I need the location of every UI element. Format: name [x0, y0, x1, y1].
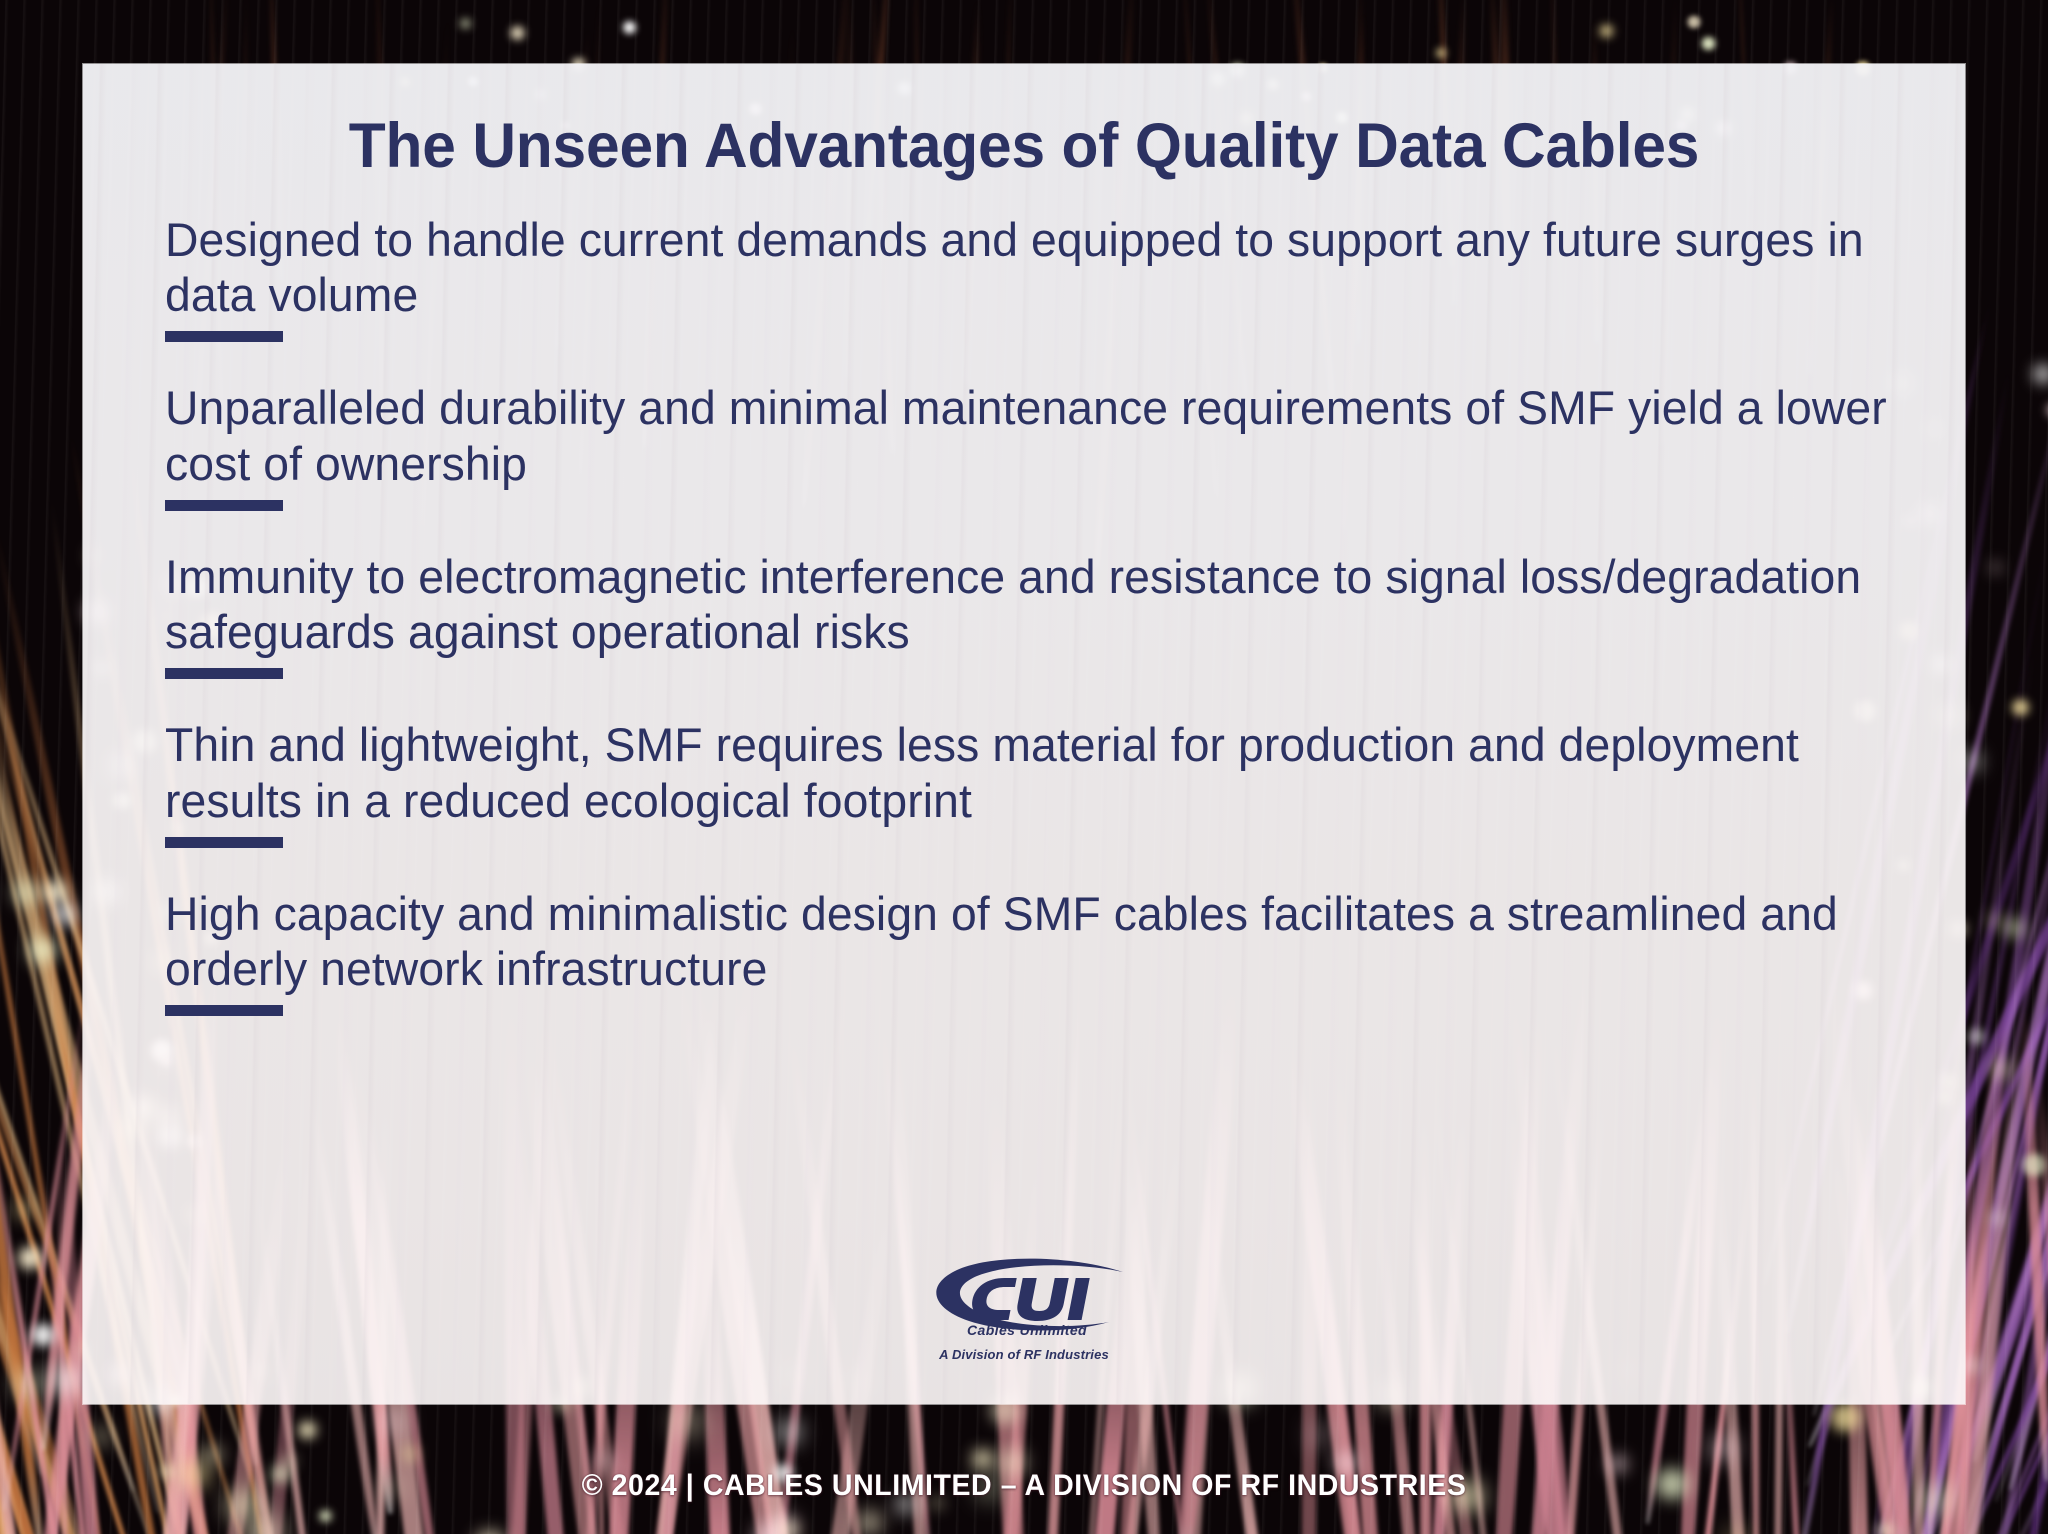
fiber-light-dot: [198, 1443, 227, 1466]
fiber-strand: [0, 576, 82, 1534]
fiber-light-dot: [1963, 1358, 1981, 1373]
advantage-item: High capacity and minimalistic design of…: [117, 886, 1931, 1016]
fiber-strand: [0, 388, 49, 1534]
fiber-light-dot: [1597, 24, 1615, 39]
fiber-strand: [0, 541, 6, 1534]
fiber-strand: [1970, 753, 2048, 1534]
fiber-strand: [1999, 404, 2048, 1534]
fiber-strand: [0, 965, 10, 1534]
fiber-strand: [1993, 404, 2048, 1503]
fiber-light-dot: [38, 878, 72, 906]
fiber-light-dot: [1985, 913, 2003, 928]
fiber-strand: [2006, 626, 2048, 1491]
fiber-light-dot: [317, 1509, 334, 1523]
fiber-strand: [0, 486, 52, 1534]
accent-rule: [165, 837, 283, 848]
fiber-light-dot: [508, 25, 527, 41]
advantage-item: Designed to handle current demands and e…: [117, 212, 1931, 342]
fiber-strand: [0, 577, 62, 1534]
fiber-strand: [1988, 475, 2048, 1534]
fiber-light-dot: [402, 1447, 419, 1461]
fiber-light-dot: [1685, 15, 1703, 30]
fiber-light-dot: [240, 1514, 288, 1534]
fiber-strand: [0, 390, 21, 1534]
fiber-strand: [1969, 488, 2048, 1463]
advantage-text: Immunity to electromagnetic interference…: [165, 549, 1905, 659]
fiber-strand: [0, 528, 68, 1534]
fiber-light-dot: [377, 1409, 409, 1435]
advantage-text: Unparalleled durability and minimal main…: [165, 380, 1905, 490]
fiber-strand: [2, 970, 92, 1511]
fiber-light-dot: [969, 1448, 996, 1470]
fiber-light-dot: [2009, 698, 2032, 717]
fiber-strand: [1952, 649, 2048, 1534]
fiber-strand: [1991, 460, 2048, 1534]
fiber-light-dot: [1989, 562, 2002, 572]
fiber-light-dot: [667, 1404, 711, 1440]
fiber-light-dot: [25, 936, 60, 965]
fiber-strand: [0, 354, 26, 1534]
fiber-strand: [1955, 551, 2048, 1534]
fiber-strand: [1960, 375, 2048, 1534]
fiber-strand: [1960, 654, 2048, 1534]
accent-rule: [165, 331, 283, 342]
fiber-light-dot: [469, 1529, 511, 1534]
fiber-strand: [0, 578, 26, 1534]
fiber-light-dot: [772, 1418, 806, 1446]
fiber-light-dot: [13, 1201, 34, 1218]
fiber-light-dot: [2030, 363, 2048, 385]
fiber-strand: [0, 714, 89, 1534]
fiber-light-dot: [594, 1453, 613, 1469]
fiber-light-dot: [43, 1362, 87, 1398]
fiber-light-dot: [1988, 1058, 2015, 1080]
fiber-strand: [1973, 804, 2048, 1534]
accent-rule: [165, 1005, 283, 1016]
advantage-item: Thin and lightweight, SMF requires less …: [117, 717, 1931, 847]
fiber-strand: [2024, 563, 2048, 1534]
advantage-text: Thin and lightweight, SMF requires less …: [165, 717, 1905, 827]
advantage-text: Designed to handle current demands and e…: [165, 212, 1905, 322]
fiber-light-dot: [27, 1322, 59, 1349]
fiber-strand: [2020, 1008, 2048, 1481]
fiber-light-dot: [1990, 1212, 2004, 1223]
fiber-light-dot: [751, 1522, 790, 1534]
fiber-strand: [0, 400, 5, 1346]
fiber-strand: [1976, 620, 2048, 1534]
fiber-strand: [0, 429, 32, 1534]
fiber-light-dot: [459, 19, 471, 29]
fiber-light-dot: [14, 1245, 46, 1271]
accent-rule: [165, 668, 283, 679]
advantage-item: Unparalleled durability and minimal main…: [117, 380, 1931, 510]
advantage-text: High capacity and minimalistic design of…: [165, 886, 1905, 996]
fiber-strand: [0, 1083, 31, 1534]
brand-logo: Cables Unlimited A Division of RF Indust…: [83, 1256, 1965, 1362]
fiber-strand: [0, 646, 16, 1534]
fiber-light-dot: [1874, 1522, 1896, 1534]
fiber-light-dot: [48, 900, 82, 927]
fiber-light-dot: [853, 1509, 886, 1534]
logo-brand-text: Cables Unlimited: [967, 1322, 1087, 1338]
fiber-light-dot: [282, 1455, 297, 1467]
fiber-strand: [0, 588, 16, 1534]
fiber-light-dot: [8, 1368, 48, 1401]
cui-logo-icon: Cables Unlimited: [917, 1256, 1131, 1342]
fiber-strand: [0, 520, 38, 1534]
accent-rule: [165, 500, 283, 511]
fiber-light-dot: [1699, 36, 1718, 51]
fiber-light-dot: [8, 877, 45, 908]
advantage-item: Immunity to electromagnetic interference…: [117, 549, 1931, 679]
logo-tagline: A Division of RF Industries: [939, 1347, 1109, 1362]
fiber-light-dot: [767, 1513, 802, 1534]
fiber-light-dot: [2001, 917, 2028, 939]
infographic-canvas: The Unseen Advantages of Quality Data Ca…: [0, 0, 2048, 1534]
fiber-light-dot: [91, 1428, 111, 1445]
fiber-light-dot: [2018, 1152, 2048, 1178]
fiber-light-dot: [1965, 1027, 1988, 1046]
footer-copyright: © 2024 | CABLES UNLIMITED – A DIVISION O…: [51, 1469, 1997, 1503]
fiber-strand: [0, 590, 44, 1476]
fiber-light-dot: [777, 1520, 802, 1534]
content-card: The Unseen Advantages of Quality Data Ca…: [83, 64, 1965, 1404]
fiber-strand: [1995, 318, 2048, 1534]
fiber-light-dot: [1707, 1435, 1740, 1462]
fiber-light-dot: [295, 1420, 320, 1440]
advantages-list: Designed to handle current demands and e…: [117, 186, 1931, 1016]
fiber-light-dot: [621, 20, 639, 34]
fiber-light-dot: [1825, 1401, 1866, 1434]
fiber-strand: [0, 451, 69, 1534]
page-title: The Unseen Advantages of Quality Data Ca…: [153, 64, 1894, 186]
fiber-light-dot: [1309, 1425, 1334, 1445]
fiber-strand: [2031, 1068, 2048, 1532]
fiber-light-dot: [1722, 1529, 1750, 1534]
fiber-light-dot: [1435, 48, 1447, 58]
